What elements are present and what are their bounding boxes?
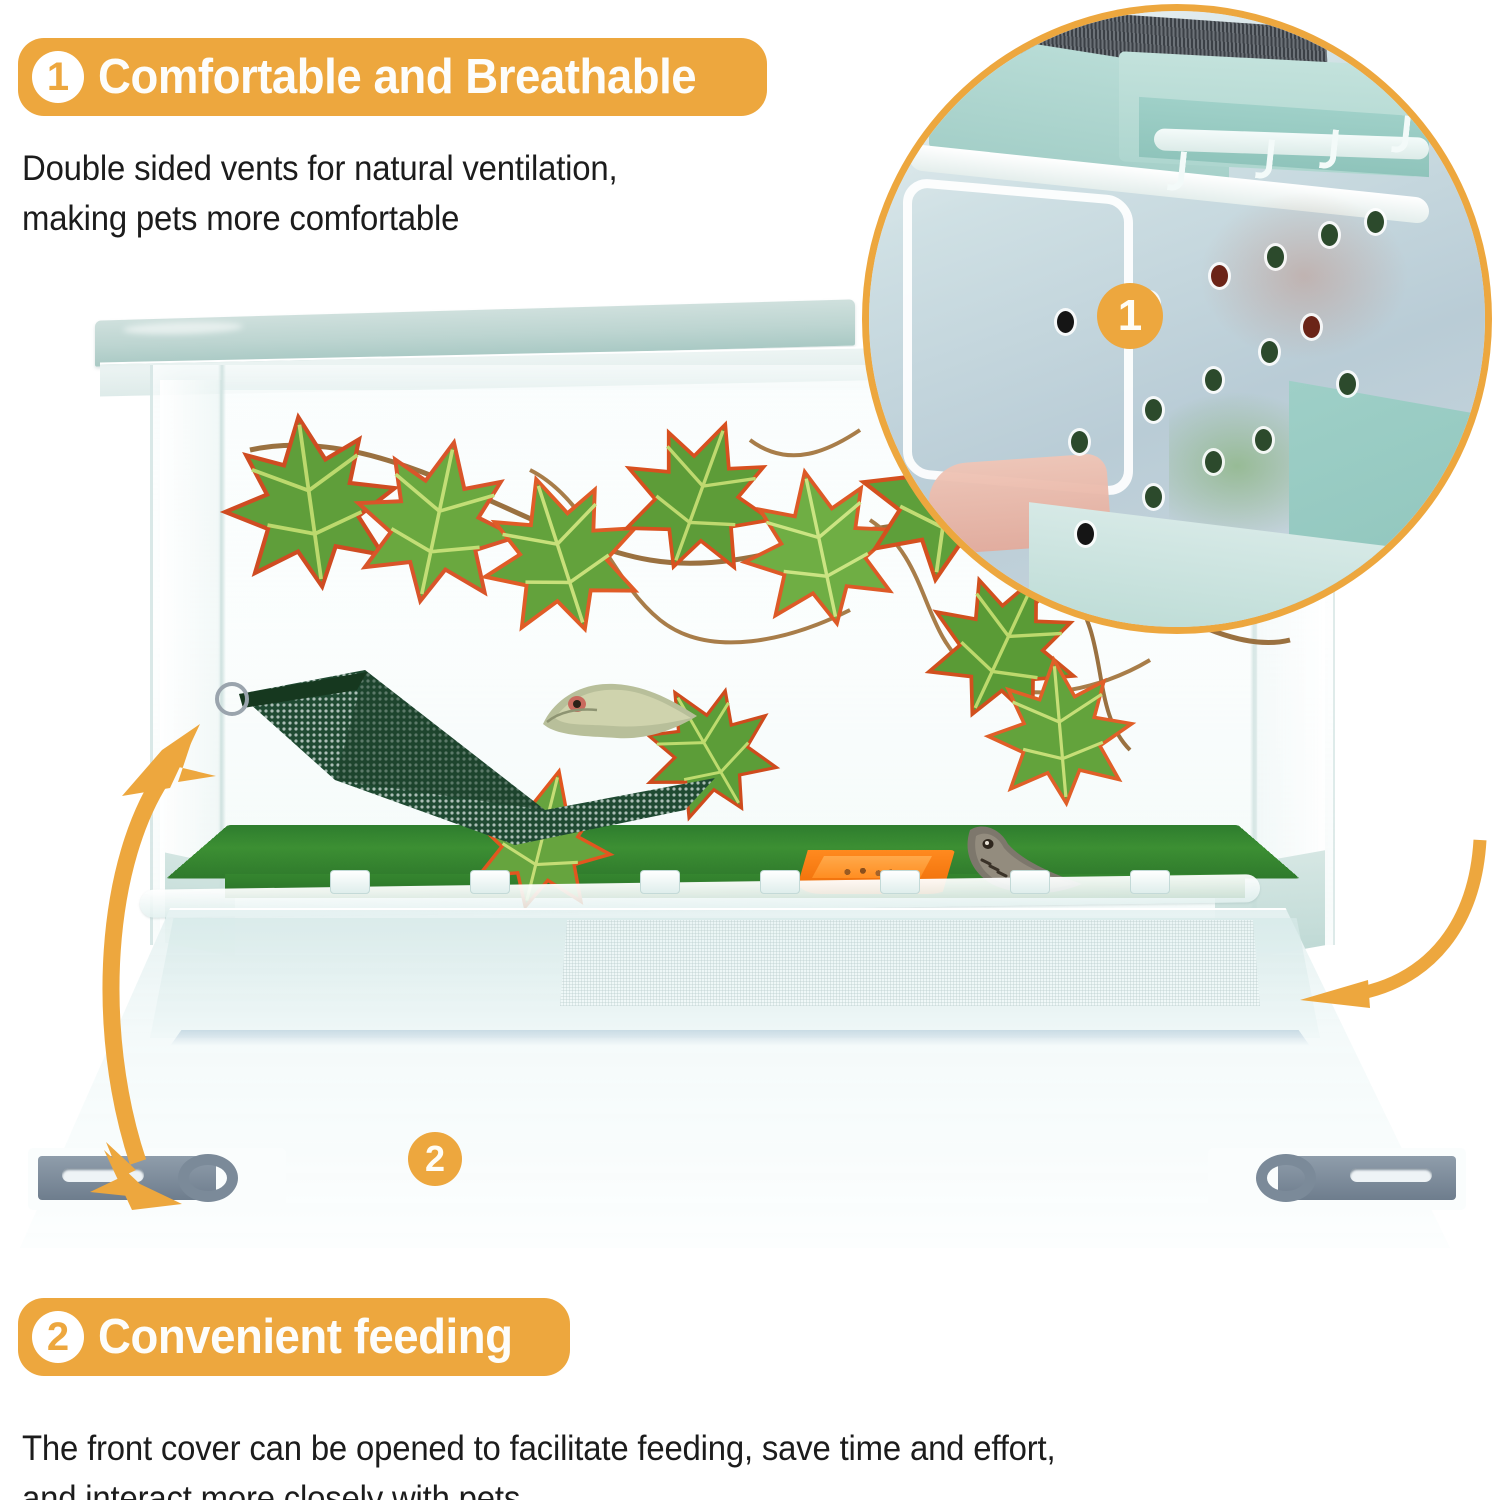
hinge-clip [1130, 870, 1170, 894]
infographic-page: 1 Comfortable and Breathable Double side… [0, 0, 1497, 1500]
lizard-on-hammock [525, 652, 705, 772]
hammock-ring [215, 682, 249, 716]
feature-2-description-line-1: The front cover can be opened to facilit… [22, 1424, 1338, 1474]
feature-2-description-line-2: and interact more closely with pets. [22, 1474, 1338, 1500]
vent-hole [1211, 265, 1228, 287]
vent-hole [1057, 311, 1074, 333]
vent-hole [1145, 399, 1162, 421]
vent-hole [1205, 369, 1222, 391]
vent-hole [1339, 373, 1356, 395]
vent-closeup-inset: 1 [862, 4, 1492, 634]
latch-ring [1256, 1154, 1316, 1202]
hinge-clip [470, 870, 510, 894]
cover-latch-left [28, 1148, 286, 1210]
vent-hole [1321, 224, 1338, 246]
vent-hole [1077, 523, 1094, 545]
cover-latch-right [1208, 1148, 1466, 1210]
feature-2-number-badge: 2 [32, 1311, 84, 1363]
feature-1-title: Comfortable and Breathable [98, 53, 696, 102]
callout-badge-2: 2 [408, 1132, 462, 1186]
feature-1-number-badge: 1 [32, 51, 84, 103]
feature-1-description-line-2: making pets more comfortable [22, 194, 812, 244]
front-cover-mesh [560, 920, 1260, 1006]
hinge-clip [640, 870, 680, 894]
latch-slot [1350, 1168, 1432, 1182]
vent-hole [1205, 451, 1222, 473]
front-cover-shadow [170, 1030, 1310, 1046]
feature-1-description-line-1: Double sided vents for natural ventilati… [22, 144, 812, 194]
vent-hole [1145, 486, 1162, 508]
feature-1-description: Double sided vents for natural ventilati… [22, 144, 862, 243]
vent-hole [1267, 246, 1284, 268]
feature-2-title: Convenient feeding [98, 1313, 512, 1362]
vent-closeup-photo: 1 [869, 11, 1485, 627]
feature-1-heading-pill: 1 Comfortable and Breathable [18, 38, 767, 116]
vent-hole [1071, 431, 1088, 453]
latch-ring [178, 1154, 238, 1202]
hinge-clip [880, 870, 920, 894]
feature-2-description: The front cover can be opened to facilit… [22, 1424, 1422, 1500]
hinge-clip [330, 870, 370, 894]
hinge-clip [1010, 870, 1050, 894]
callout-badge-1: 1 [1097, 283, 1163, 349]
feature-2-heading-pill: 2 Convenient feeding [18, 1298, 570, 1376]
maple-leaf [958, 642, 1161, 818]
vent-hole [1255, 429, 1272, 451]
vent-hole [1367, 211, 1384, 233]
latch-slot [62, 1168, 144, 1182]
vent-hole [1261, 341, 1278, 363]
vent-hole [1303, 316, 1320, 338]
hinge-clip [760, 870, 800, 894]
